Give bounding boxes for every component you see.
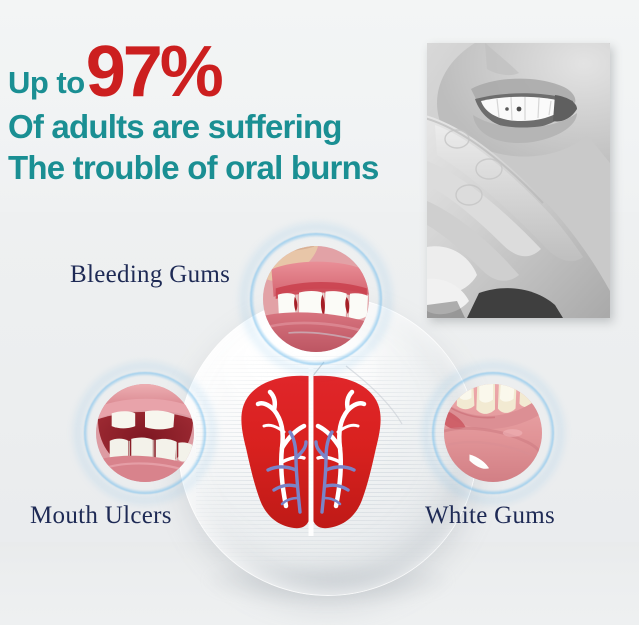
headline-line-3: The trouble of oral burns [8,149,408,186]
woman-with-toothache-photo-graphic [427,43,610,318]
symptom-label-mouth-ulcers: Mouth Ulcers [30,502,172,530]
bubble-ring [432,372,554,494]
headline-prefix: Up to [8,67,85,104]
headline-percent: 97% [86,42,221,104]
headline-block: Up to 97% Of adults are suffering The tr… [8,42,408,186]
tooth-pulp-anatomy [216,366,406,538]
symptom-label-white-gums: White Gums [425,502,555,530]
symptom-label-bleeding-gums: Bleeding Gums [70,261,230,289]
woman-with-toothache-photo [427,43,610,318]
oral-health-infographic: Up to 97% Of adults are suffering The tr… [0,0,639,625]
headline-line-2: Of adults are suffering [8,108,408,145]
bubble-ring [84,372,206,494]
center-split-line [309,368,314,536]
bubble-ring [250,233,382,365]
symptom-bubble-bleeding-gums[interactable] [250,233,382,365]
symptom-bubble-white-gums[interactable] [432,372,554,494]
headline-stat-row: Up to 97% [8,42,408,104]
tooth-pulp-anatomy-graphic [216,366,406,538]
symptom-bubble-mouth-ulcers[interactable] [84,372,206,494]
